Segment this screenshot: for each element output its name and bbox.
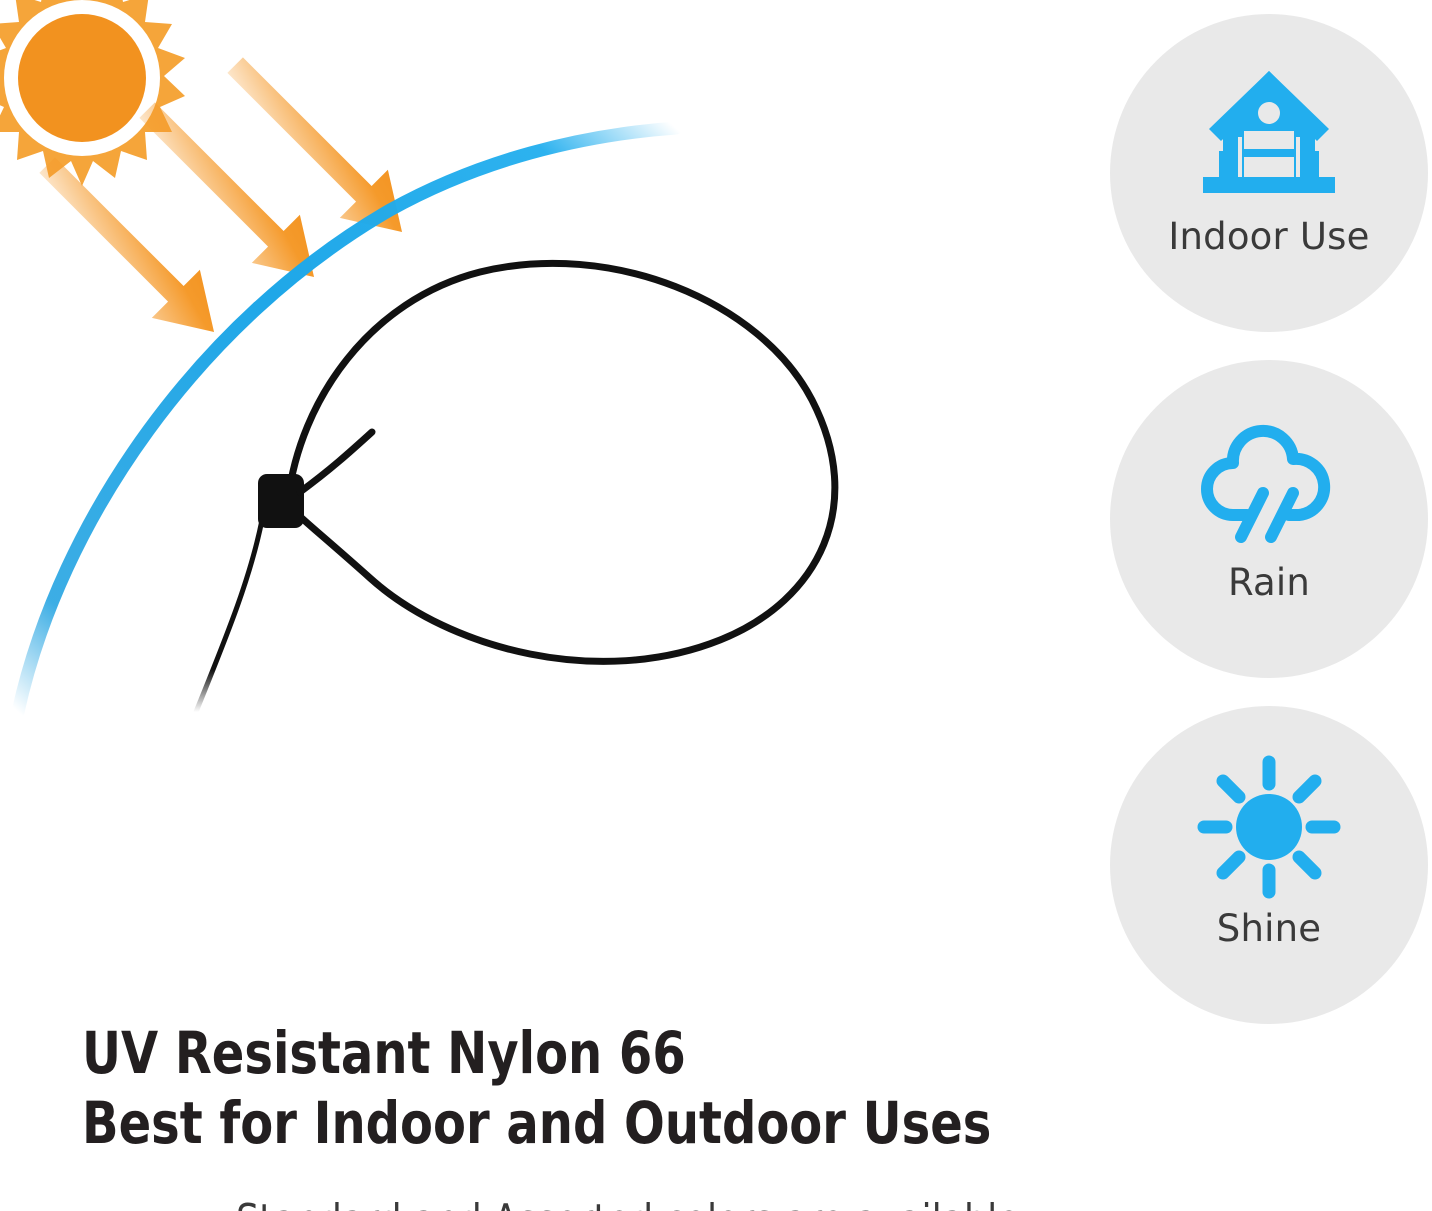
sun-shine-icon (1184, 752, 1354, 902)
feature-badge-indoor-use[interactable]: Indoor Use (1110, 14, 1428, 332)
sun-burst-icon (0, 0, 185, 186)
feature-badge-shine[interactable]: Shine (1110, 706, 1428, 1024)
uv-ray-arrow-3 (211, 41, 426, 256)
headline-line-3-clipped: Standard and Assorted colors are availab… (236, 1196, 1036, 1211)
house-icon (1184, 60, 1354, 210)
headline-line-3-text: Standard and Assorted colors are availab… (236, 1196, 972, 1211)
cable-tie-head (258, 474, 304, 528)
rain-cloud-icon (1184, 406, 1354, 556)
headline-block: UV Resistant Nylon 66 Best for Indoor an… (82, 1018, 1082, 1158)
feature-badge-list: Indoor Use Rain (1110, 14, 1432, 1020)
cable-tie-strap (300, 432, 372, 492)
feature-label: Indoor Use (1168, 218, 1369, 255)
product-infographic: Indoor Use Rain (0, 0, 1432, 1211)
cable-tie-loop (288, 263, 835, 661)
uv-resistance-illustration (0, 0, 1100, 1000)
cable-tie (196, 263, 835, 712)
headline-line-2: Best for Indoor and Outdoor Uses (82, 1088, 1002, 1158)
feature-badge-rain[interactable]: Rain (1110, 360, 1428, 678)
cable-tie-tail (196, 520, 262, 712)
headline-line-1: UV Resistant Nylon 66 (82, 1018, 1002, 1088)
feature-label: Shine (1217, 910, 1321, 947)
feature-label: Rain (1228, 564, 1310, 601)
